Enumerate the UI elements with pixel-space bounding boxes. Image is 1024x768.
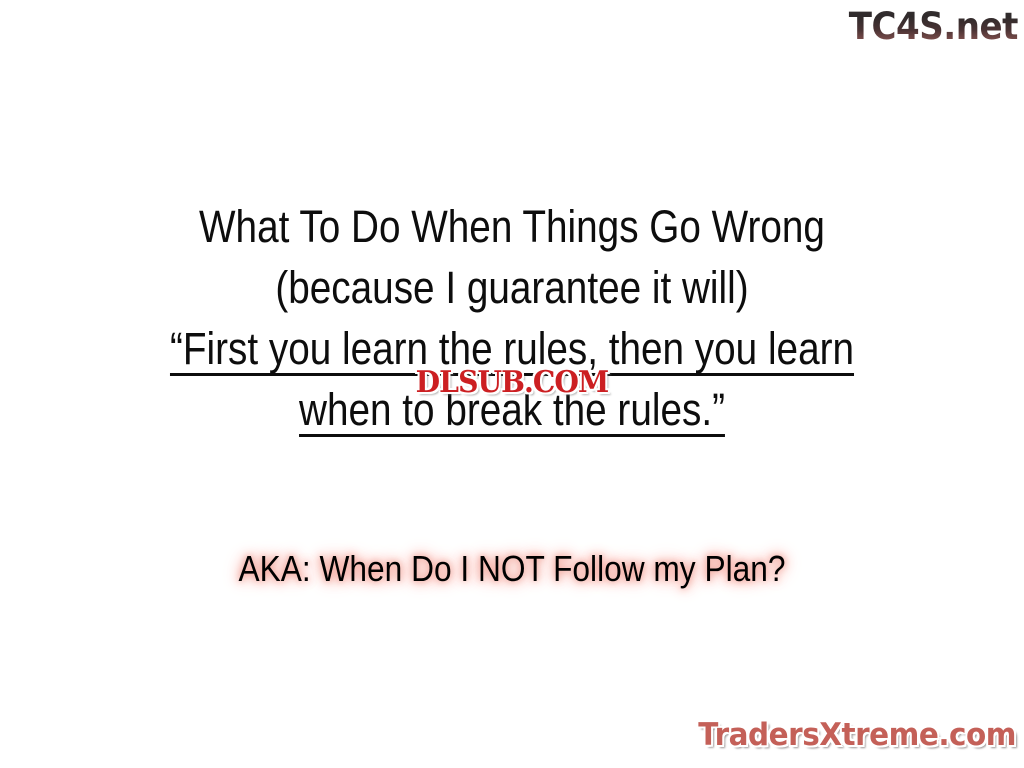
headline-line-1: What To Do When Things Go Wrong (72, 196, 953, 257)
tradersxtreme-site-logo: TradersXtreme.com (703, 712, 1017, 758)
slide-headline-block: What To Do When Things Go Wrong (because… (72, 196, 953, 440)
presentation-slide: TC4S.net What To Do When Things Go Wrong… (0, 0, 1024, 768)
tc4s-brand-logo: TC4S.net (841, 2, 1018, 50)
headline-line-2: (because I guarantee it will) (72, 257, 953, 318)
dlsub-watermark: DLSUB.COM (377, 366, 648, 400)
aka-subtitle: AKA: When Do I NOT Follow my Plan? (61, 546, 962, 592)
